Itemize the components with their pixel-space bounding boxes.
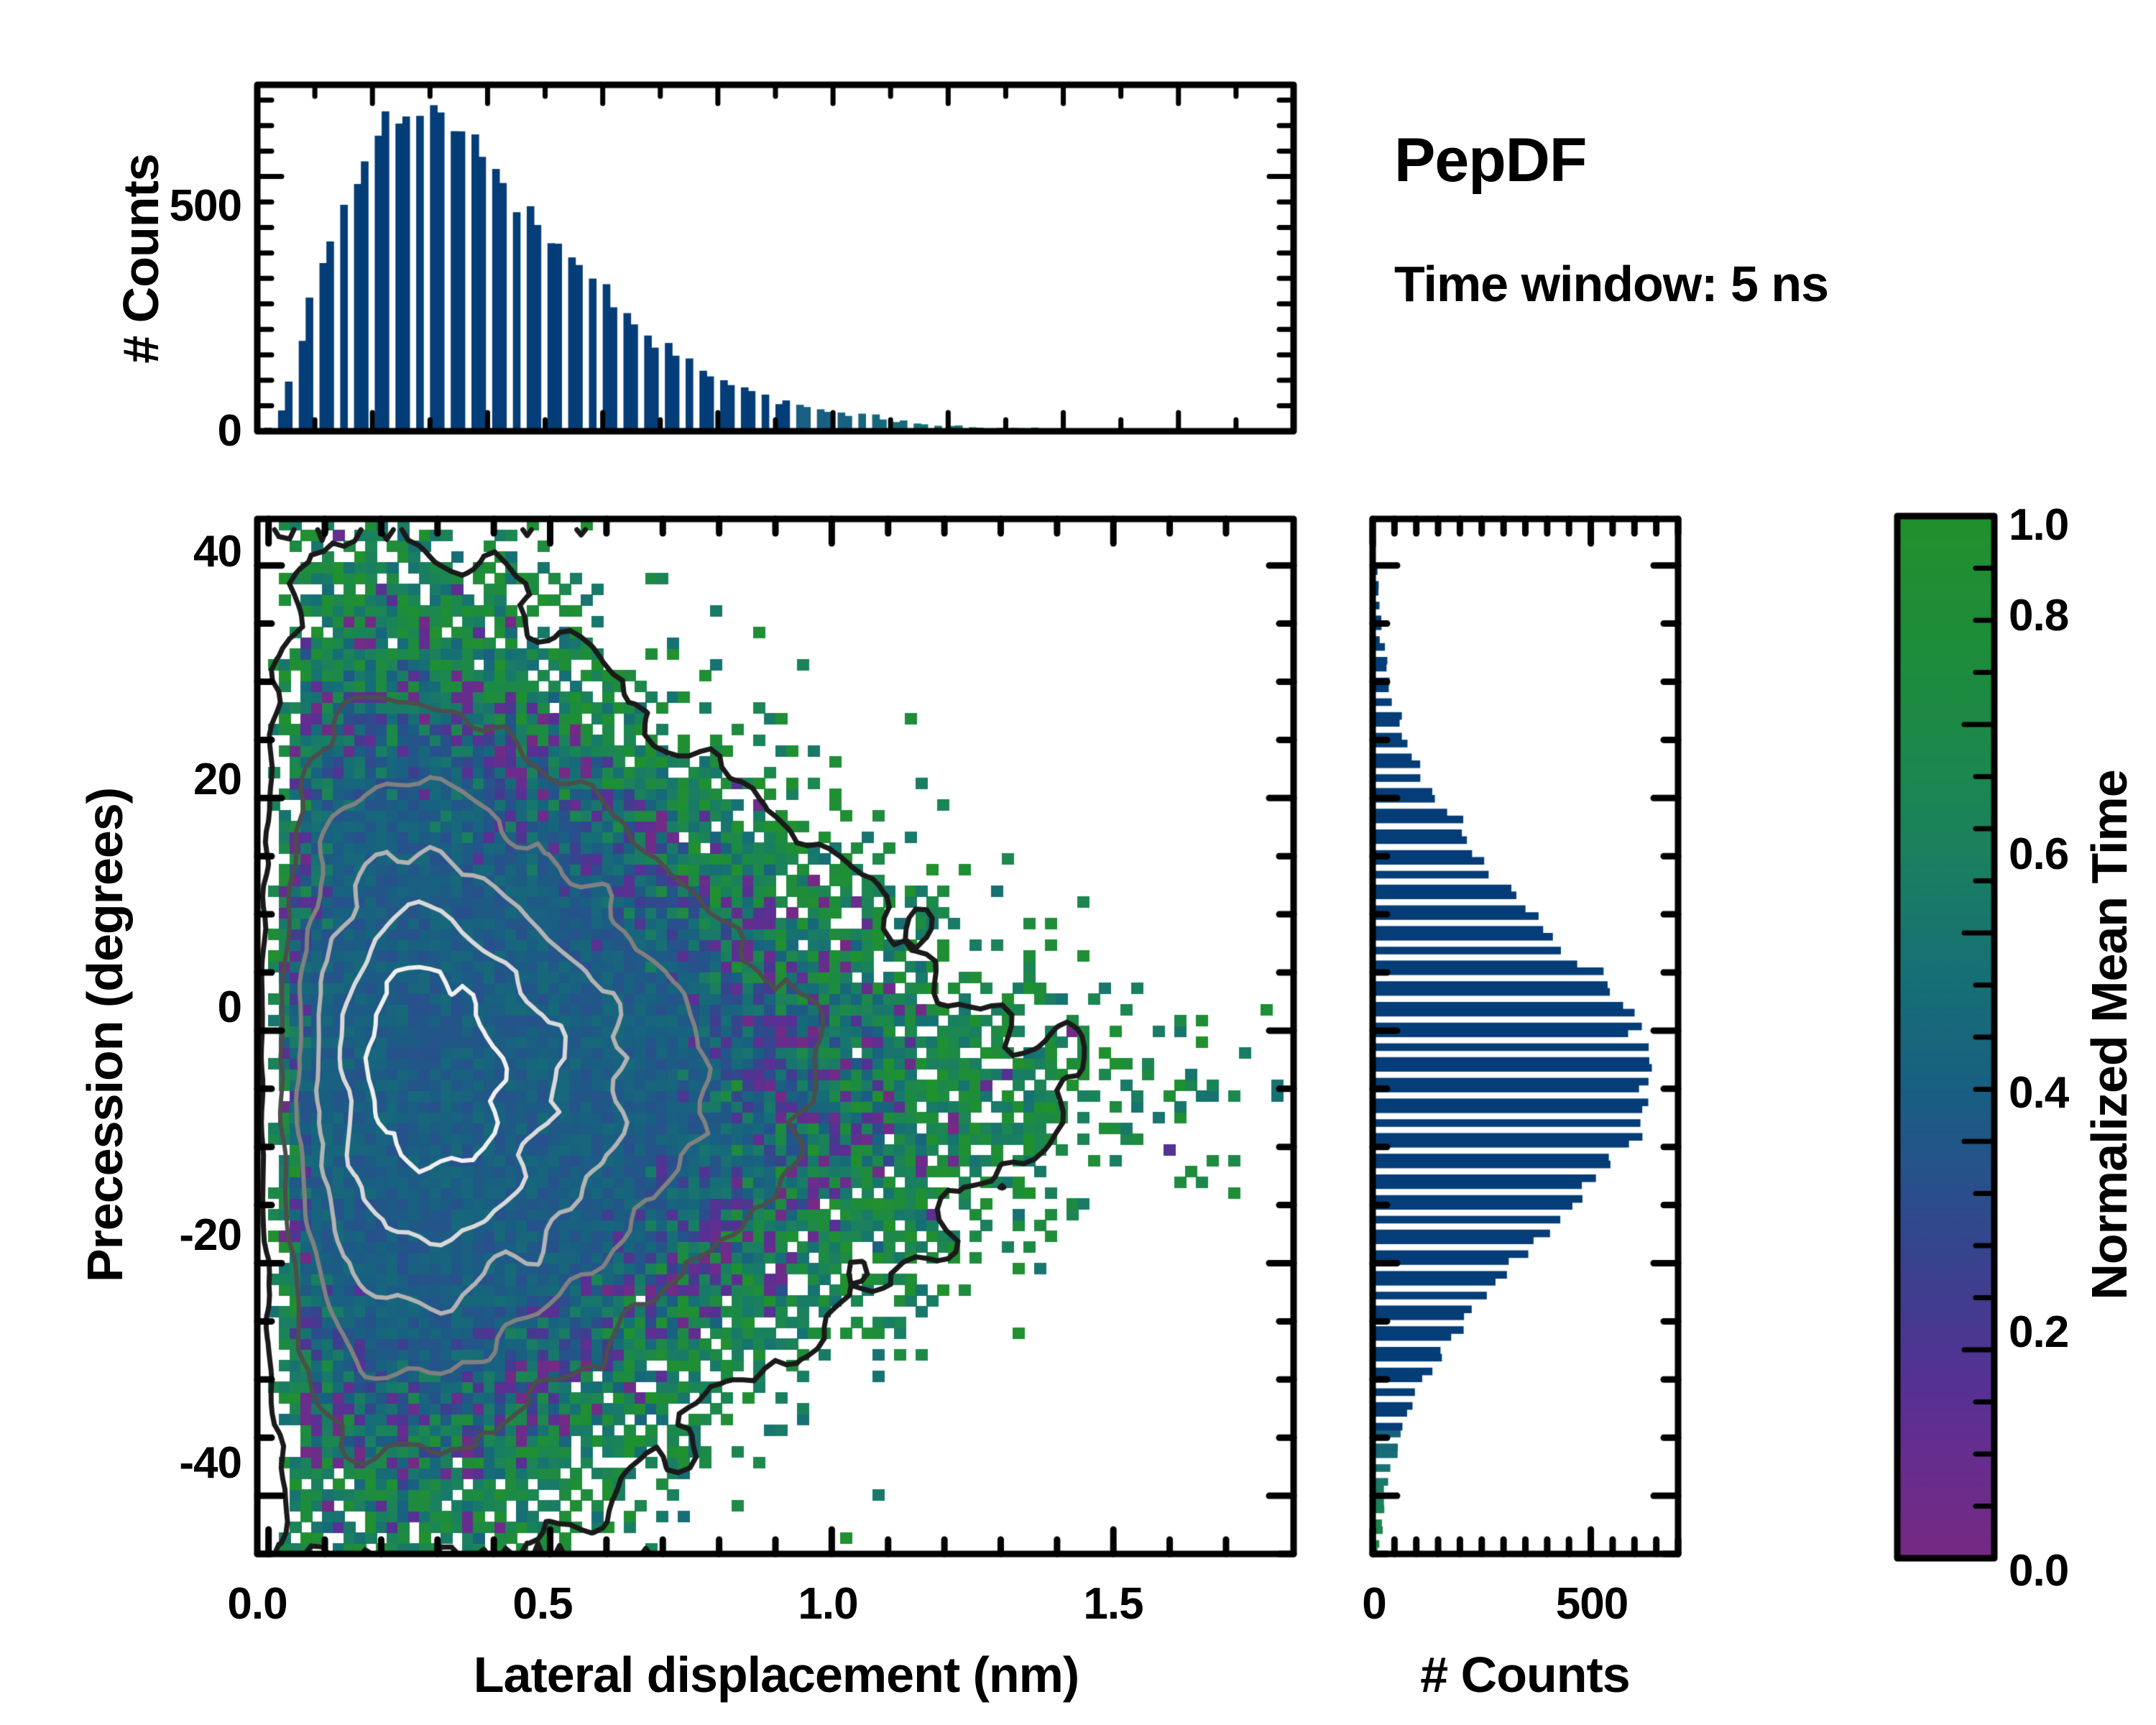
right-panel-xtick-0: 0: [1362, 1582, 1386, 1627]
main-ytick-0: 0: [218, 985, 241, 1030]
main-xtick-1p0: 1.0: [798, 1582, 857, 1627]
main-xtick-1p5: 1.5: [1083, 1582, 1143, 1627]
main-ytick-40: 40: [193, 530, 241, 574]
main-ytick-minus40: -40: [179, 1441, 241, 1486]
main-ytick-minus20: -20: [179, 1213, 241, 1258]
top-panel-ytick-0: 0: [218, 409, 241, 454]
main-xtick-0p5: 0.5: [512, 1582, 572, 1627]
colorbar-tick-0p4: 0.4: [2009, 1071, 2068, 1115]
top-panel-ytick-500: 500: [170, 184, 241, 229]
main-xlabel: Lateral displacement (nm): [474, 1650, 1079, 1700]
main-xtick-0: 0.0: [227, 1582, 287, 1627]
right-panel-xtick-500: 500: [1556, 1582, 1628, 1627]
main-ytick-20: 20: [193, 758, 241, 802]
colorbar-tick-0p0: 0.0: [2009, 1549, 2068, 1593]
figure-title: PepDF: [1394, 129, 1586, 191]
figure-subtitle: Time window: 5 ns: [1394, 259, 1828, 309]
colorbar-label: Normalized Mean Time: [2084, 770, 2134, 1299]
right-panel-xlabel: # Counts: [1420, 1650, 1629, 1700]
main-ylabel: Precession (degrees): [80, 788, 130, 1282]
colorbar-tick-0p6: 0.6: [2009, 832, 2068, 877]
colorbar-tick-0p8: 0.8: [2009, 594, 2068, 638]
colorbar-tick-0p2: 0.2: [2009, 1310, 2068, 1355]
top-panel-ylabel: # Counts: [116, 154, 166, 363]
joint-plot-canvas: [0, 0, 2156, 1725]
colorbar-tick-1p0: 1.0: [2009, 503, 2068, 548]
figure-root: 0 500 # Counts PepDF Time window: 5 ns 4…: [0, 0, 2156, 1725]
